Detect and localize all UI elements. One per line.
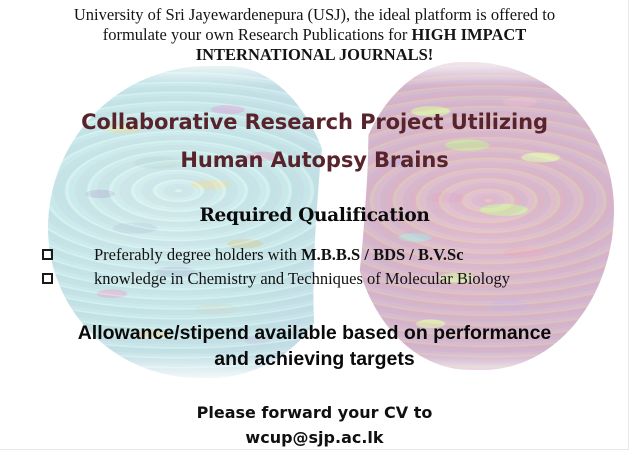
qual-1-text-before: Preferably degree holders with (94, 245, 301, 264)
intro-line-3-bold: INTERNATIONAL JOURNALS! (196, 45, 434, 64)
section-heading-required-qualification: Required Qualification (40, 205, 589, 226)
footer-instruction: Please forward your CV to (197, 403, 433, 422)
list-item: knowledge in Chemistry and Techniques of… (40, 268, 600, 292)
qual-1-text-bold: M.B.B.S / BDS / B.V.Sc (301, 245, 463, 264)
poster-canvas: University of Sri Jayewardenepura (USJ),… (0, 0, 629, 450)
headline-line-1: Collaborative Research Project Utilizing (81, 110, 548, 134)
intro-line-2-bold: HIGH IMPACT (412, 25, 527, 44)
intro-line-2-normal: formulate your own Research Publications… (103, 25, 412, 44)
checkbox-icon (42, 273, 53, 284)
contact-email[interactable]: wcup@sjp.ac.lk (245, 428, 383, 447)
allowance-line-2: and achieving targets (214, 348, 414, 370)
page-title: Collaborative Research Project Utilizing… (40, 103, 589, 179)
contact-footer: Please forward your CV to wcup@sjp.ac.lk (40, 400, 589, 450)
headline-line-2: Human Autopsy Brains (180, 148, 448, 172)
qualification-list: Preferably degree holders with M.B.B.S /… (40, 244, 600, 292)
poster-content: University of Sri Jayewardenepura (USJ),… (0, 0, 629, 450)
intro-paragraph: University of Sri Jayewardenepura (USJ),… (18, 5, 611, 65)
allowance-statement: Allowance/stipend available based on per… (14, 320, 615, 372)
checkbox-icon (42, 249, 53, 260)
list-item: Preferably degree holders with M.B.B.S /… (40, 244, 600, 268)
qual-2-text-before: knowledge in Chemistry and Techniques of… (94, 269, 510, 288)
list-item-text: knowledge in Chemistry and Techniques of… (94, 268, 510, 290)
list-item-text: Preferably degree holders with M.B.B.S /… (94, 244, 464, 266)
intro-line-1: University of Sri Jayewardenepura (USJ),… (74, 5, 555, 24)
allowance-line-1: Allowance/stipend available based on per… (78, 322, 552, 344)
